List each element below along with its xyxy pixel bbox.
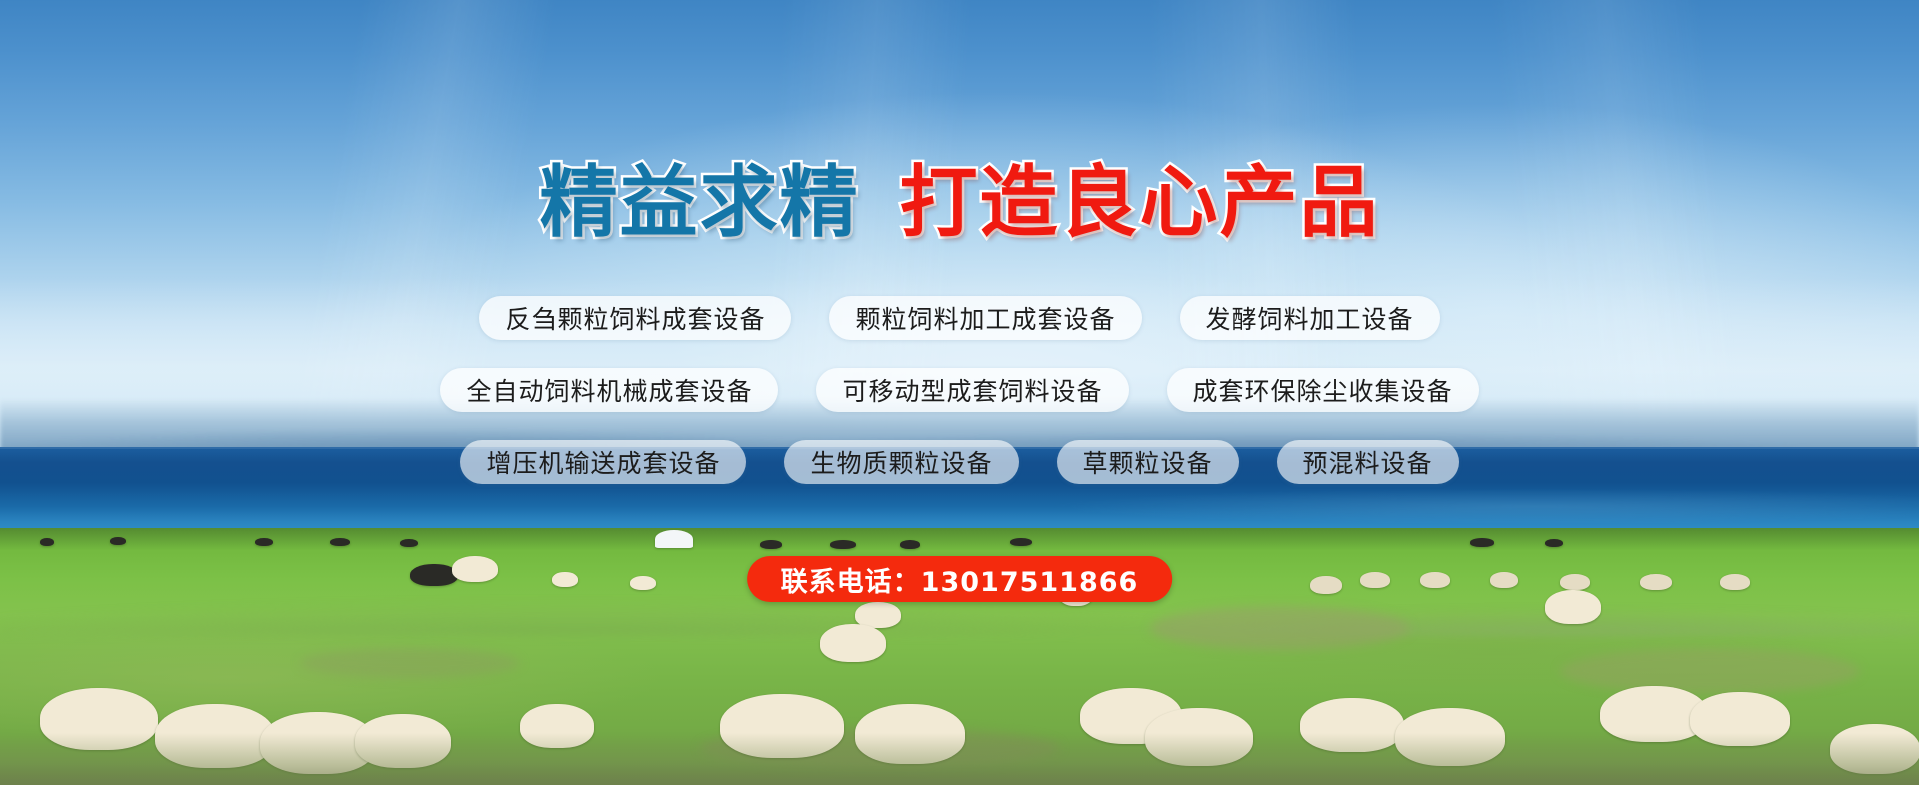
category-pill-automatic-feed-machinery-line[interactable]: 全自动饲料机械成套设备 <box>440 368 778 412</box>
sheep <box>1360 572 1390 588</box>
sheep <box>900 540 920 549</box>
sheep <box>1420 572 1450 588</box>
sheep <box>40 538 54 546</box>
sheep <box>830 540 856 549</box>
dirt-patch <box>1560 648 1860 694</box>
sheep <box>330 538 350 546</box>
sheep <box>1545 539 1563 547</box>
category-pill-ruminant-pellet-feed-line[interactable]: 反刍颗粒饲料成套设备 <box>479 296 791 340</box>
sheep <box>400 539 418 547</box>
dirt-patch <box>1150 606 1410 650</box>
sheep <box>760 540 782 549</box>
sheep <box>1310 576 1342 594</box>
banner-stage: 精益求精打造良心产品 反刍颗粒饲料成套设备 颗粒饲料加工成套设备 发酵饲料加工设… <box>0 0 1919 785</box>
category-pill-grass-pellet-equipment[interactable]: 草颗粒设备 <box>1057 440 1239 484</box>
category-row-3: 增压机输送成套设备 生物质颗粒设备 草颗粒设备 预混料设备 <box>0 440 1919 484</box>
sheep <box>1640 574 1672 590</box>
sheep <box>630 576 656 590</box>
sheep <box>410 564 458 586</box>
category-pill-mobile-feed-line[interactable]: 可移动型成套饲料设备 <box>816 368 1128 412</box>
category-pill-booster-conveying-line[interactable]: 增压机输送成套设备 <box>460 440 746 484</box>
sheep <box>1720 574 1750 590</box>
category-pill-pellet-feed-processing-line[interactable]: 颗粒饲料加工成套设备 <box>829 296 1141 340</box>
sheep <box>1490 572 1518 588</box>
sheep <box>452 556 498 582</box>
contact-phone-banner[interactable]: 联系电话：13017511866 <box>747 556 1173 602</box>
headline-secondary: 打造良心产品 <box>900 158 1380 248</box>
sheep <box>110 537 126 545</box>
sheep <box>820 624 886 662</box>
sheep <box>1545 590 1601 624</box>
category-row-1: 反刍颗粒饲料成套设备 颗粒饲料加工成套设备 发酵饲料加工设备 <box>0 296 1919 340</box>
headline: 精益求精打造良心产品 <box>0 164 1919 242</box>
category-pill-premix-equipment[interactable]: 预混料设备 <box>1277 440 1459 484</box>
sheep <box>552 572 578 587</box>
tent <box>655 530 693 548</box>
dirt-trail <box>0 733 1919 785</box>
headline-primary: 精益求精 <box>539 158 859 248</box>
grass-far-band <box>0 528 1919 550</box>
category-pill-fermented-feed-processing[interactable]: 发酵饲料加工设备 <box>1180 296 1440 340</box>
category-row-2: 全自动饲料机械成套设备 可移动型成套饲料设备 成套环保除尘收集设备 <box>0 368 1919 412</box>
sheep <box>1470 538 1494 547</box>
category-pill-biomass-pellet-equipment[interactable]: 生物质颗粒设备 <box>784 440 1018 484</box>
sheep <box>1560 574 1590 590</box>
category-pill-dust-collection-line[interactable]: 成套环保除尘收集设备 <box>1167 368 1479 412</box>
category-pill-groups: 反刍颗粒饲料成套设备 颗粒饲料加工成套设备 发酵饲料加工设备 全自动饲料机械成套… <box>0 296 1919 512</box>
sheep <box>255 538 273 546</box>
sheep <box>1010 538 1032 546</box>
dirt-patch <box>300 648 520 678</box>
